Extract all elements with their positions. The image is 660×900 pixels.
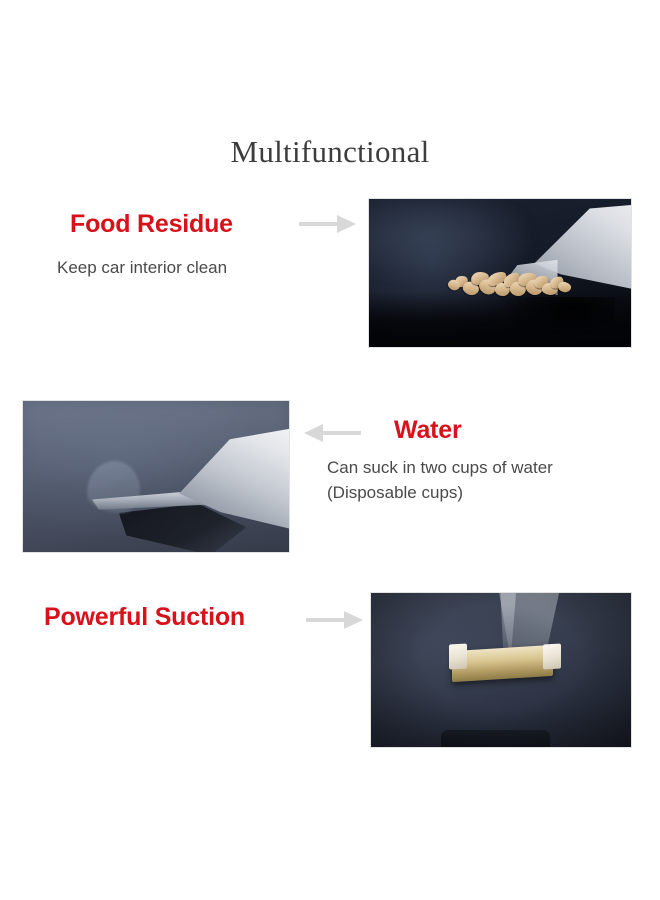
feature-image-powerful-suction (370, 592, 632, 748)
product-infographic: Multifunctional Food Residue Keep car in… (0, 0, 660, 900)
feature-description-food-residue: Keep car interior clean (57, 256, 227, 281)
feature-heading-water: Water (394, 417, 462, 445)
page-title: Multifunctional (0, 134, 660, 170)
feature-description-water-line-1: Can suck in two cups of water (327, 456, 553, 481)
feature-image-water (22, 400, 290, 553)
feature-heading-food-residue: Food Residue (70, 211, 233, 239)
arrow-left-icon (304, 420, 362, 446)
feature-image-food-residue (368, 198, 632, 348)
arrow-right-icon (299, 211, 357, 237)
feature-description-water-line-2: (Disposable cups) (327, 481, 463, 506)
arrow-right-icon (306, 607, 364, 633)
feature-heading-powerful-suction: Powerful Suction (44, 604, 245, 632)
